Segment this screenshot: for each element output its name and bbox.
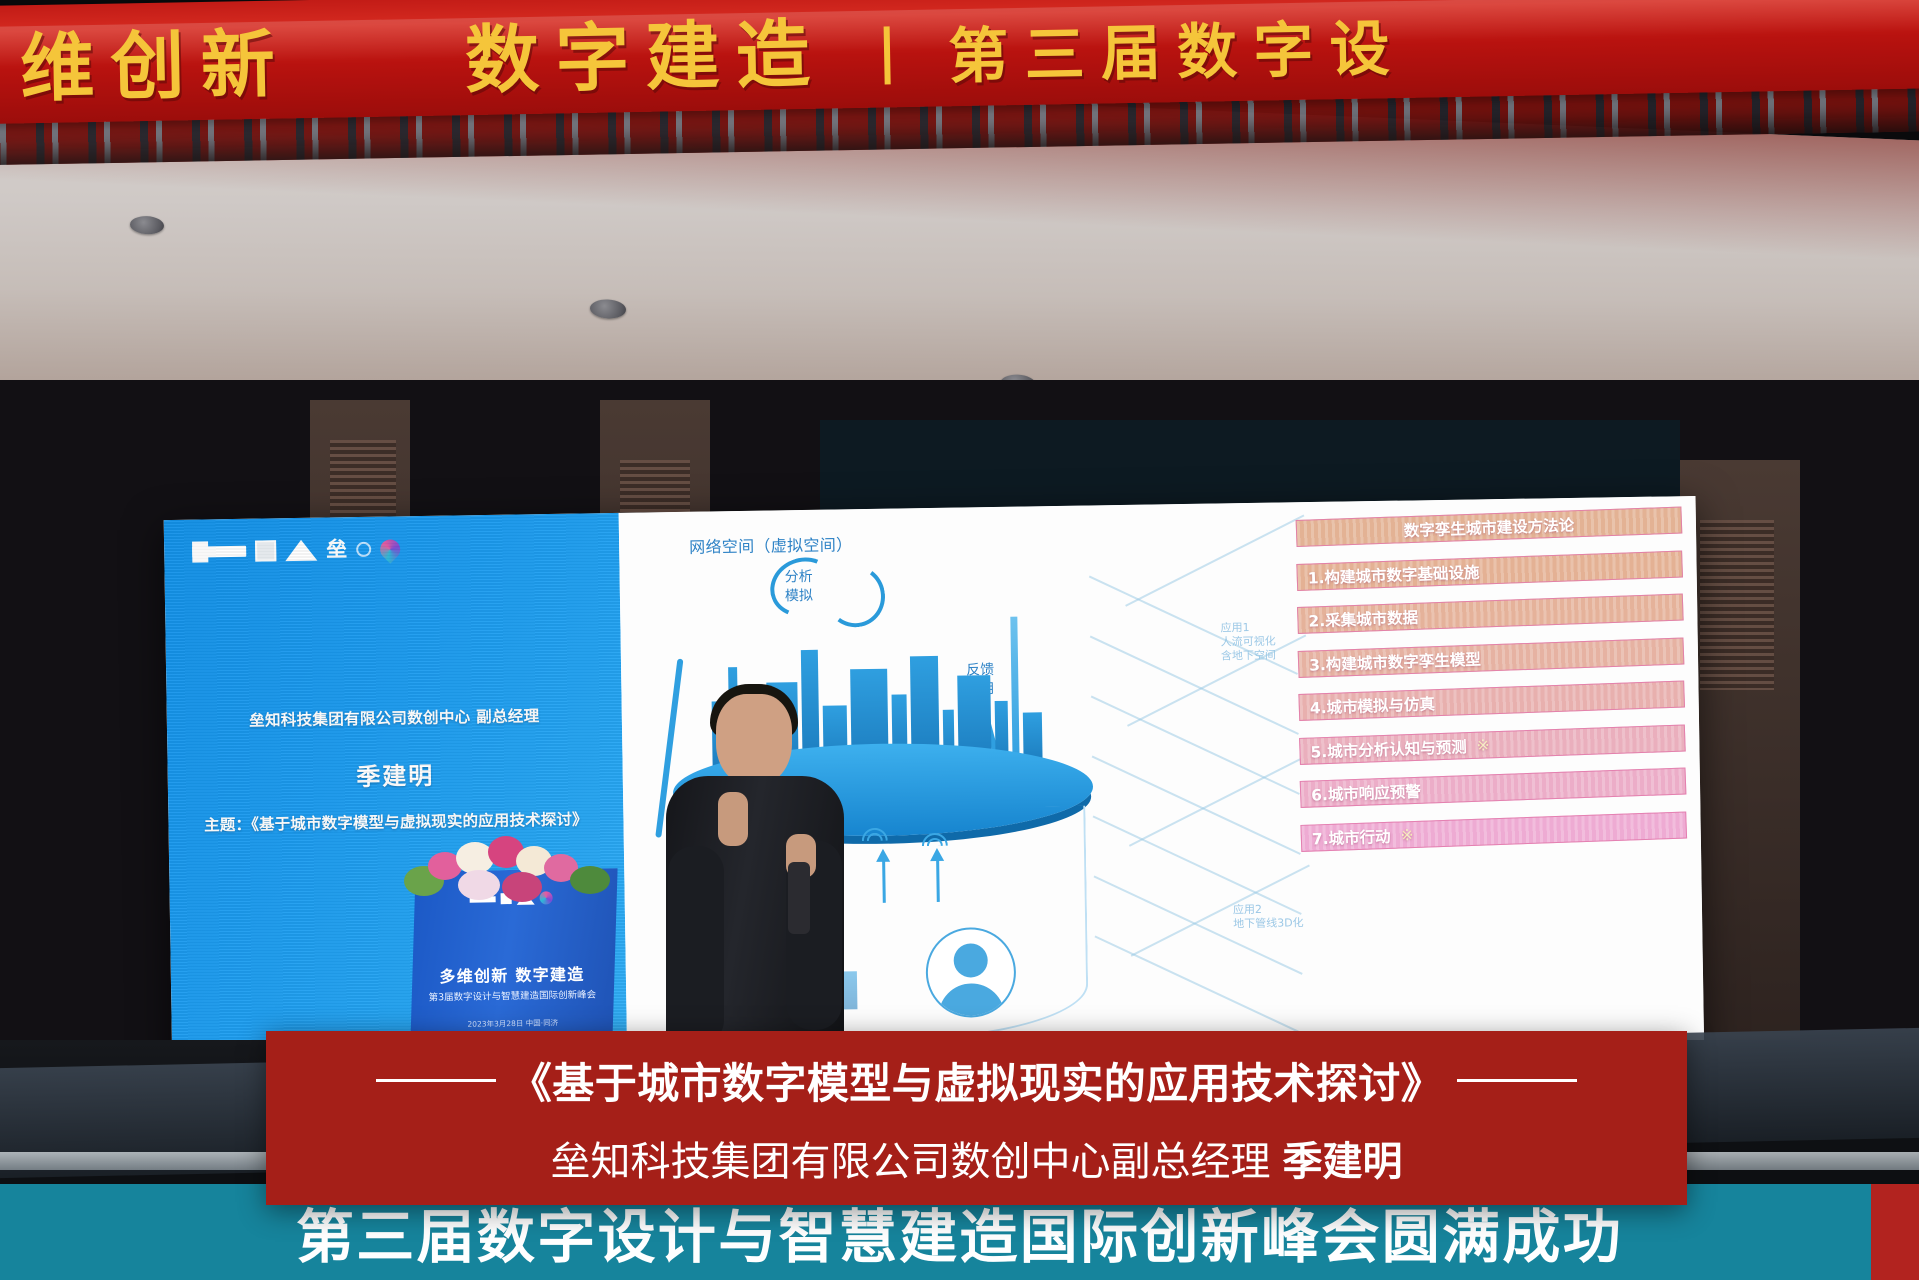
banner-main-left: 维创新 (19, 21, 291, 112)
methodology-item: 6.城市响应预警 (1300, 767, 1687, 807)
caption-bar: 《基于城市数字模型与虚拟现实的应用技术探讨》 垒知科技集团有限公司数创中心副总经… (266, 1031, 1687, 1205)
flower (502, 872, 542, 902)
methodology-item-label: 5.城市分析认知与预测 (1310, 734, 1467, 761)
speaker-arm-left (668, 846, 724, 1046)
speaker-name: 季建明 (167, 753, 622, 795)
methodology-item-label: 2.采集城市数据 (1308, 605, 1418, 631)
avatar-shoulders (938, 983, 1005, 1018)
presentation-screen: 垒 垒知科技集团有限公司数创中心 副总经理 季建明 主题：《基于城市数字模型与虚… (164, 496, 1705, 1080)
ceiling-light-off (590, 299, 626, 320)
caption-name: 季建明 (1283, 1139, 1403, 1185)
methodology-item-mark: ※ (1476, 735, 1490, 753)
wifi-icon (862, 827, 888, 841)
methodology-header: 数字孪生城市建设方法论 (1296, 507, 1683, 547)
isometric-layer (1091, 696, 1300, 795)
methodology-item: 3.构建城市数字孪生模型 (1298, 637, 1685, 677)
wifi-icon (922, 832, 948, 846)
banner-separator (884, 26, 891, 84)
diagram-label-app2: 应用2 地下管线3D化 (1233, 902, 1304, 931)
logo-flower-icon (376, 535, 404, 563)
ceiling-light-off (130, 215, 164, 234)
speaker-hand-left (718, 792, 748, 846)
isometric-layer (1092, 756, 1301, 855)
methodology-item: 7.城市行动 ※ (1300, 811, 1687, 851)
flower (458, 870, 500, 900)
logo-square-icon (255, 540, 276, 561)
logo-mountain-icon (285, 540, 317, 562)
company-logo: 垒 (192, 538, 400, 562)
caption-org: 垒知科技集团有限公司数创中心副总经理 (551, 1139, 1271, 1185)
isometric-layer (1125, 514, 1304, 606)
banner-red-edge (1871, 1184, 1919, 1280)
diagram-title-cyberspace: 网络空间（虚拟空间） (689, 531, 853, 558)
methodology-item-mark: ※ (1400, 825, 1414, 843)
caption-rule-left (376, 1079, 496, 1082)
methodology-item-label: 1.构建城市数字基础设施 (1307, 560, 1479, 588)
methodology-list: 数字孪生城市建设方法论 1.构建城市数字基础设施 2.采集城市数据 3.构建城市… (1296, 510, 1687, 864)
caption-rule-right (1457, 1079, 1577, 1082)
caption-line-1: 《基于城市数字模型与虚拟现实的应用技术探讨》 (376, 1050, 1577, 1111)
methodology-item: 2.采集城市数据 (1297, 594, 1684, 634)
methodology-item: 4.城市模拟与仿真 (1298, 681, 1685, 721)
banner-text-group: 维创新 数字建造 第三届数字设 (19, 0, 1407, 116)
podium-date: 2023年3月28日 中国·同济 (405, 1016, 620, 1031)
methodology-item-label: 3.构建城市数字孪生模型 (1309, 647, 1481, 675)
microphone (788, 862, 810, 934)
isometric-layer (1129, 754, 1308, 846)
banner-sub: 第三届数字设 (948, 14, 1407, 92)
isometric-layer (1094, 935, 1303, 1034)
wall-slats (1700, 520, 1774, 690)
speaker-role: 垒知科技集团有限公司数创中心 副总经理 (167, 703, 622, 732)
methodology-item-label: 6.城市响应预警 (1311, 779, 1421, 805)
methodology-item-label: 7.城市行动 (1311, 824, 1390, 849)
methodology-header-label: 数字孪生城市建设方法论 (1403, 513, 1574, 541)
conference-photo: 维创新 数字建造 第三届数字设 垒 垒知科技集团有限公司数创中心 副总经理 季建… (0, 0, 1919, 1280)
podium-subtitle: 第3届数字设计与智慧建造国际创新峰会 (405, 986, 620, 1004)
methodology-item-label: 4.城市模拟与仿真 (1309, 692, 1435, 718)
tv-tower (1010, 617, 1020, 767)
upward-arrow-head (930, 848, 944, 861)
caption-title: 《基于城市数字模型与虚拟现实的应用技术探讨》 (510, 1050, 1443, 1111)
flower (570, 866, 610, 894)
logo-circle-icon (356, 542, 371, 557)
methodology-item: 1.构建城市数字基础设施 (1296, 550, 1683, 590)
logo-bar-icon (192, 546, 246, 558)
speaker-head (716, 694, 792, 786)
isometric-layer (1093, 815, 1302, 914)
isometric-layer (1127, 634, 1306, 726)
logo-char: 垒 (326, 539, 347, 560)
caption-line-2: 垒知科技集团有限公司数创中心副总经理季建明 (551, 1129, 1403, 1187)
banner-main-right: 数字建造 (464, 12, 827, 105)
upward-arrow-head (876, 849, 890, 862)
methodology-item: 5.城市分析认知与预测 ※ (1299, 724, 1686, 764)
podium-title: 多维创新 数字建造 (404, 960, 619, 988)
flower-arrangement (398, 832, 620, 910)
avatar-head (953, 943, 988, 978)
